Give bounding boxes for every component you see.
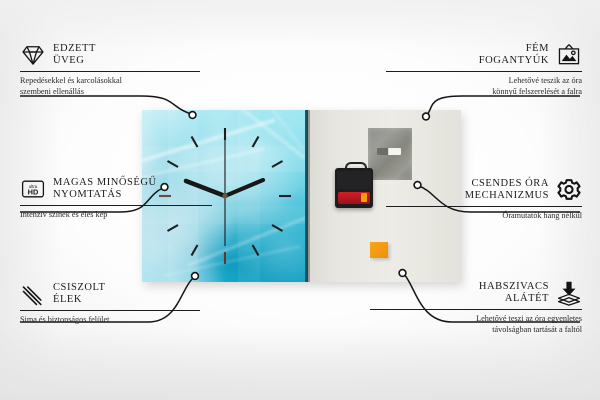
ultra-hd-icon: ultra HD (20, 176, 46, 202)
callout-polished-edges: CSISZOLT ÉLEK Sima és biztonságos felüle… (20, 281, 200, 326)
callout-desc-line1: Óramutatók hang nélkül (386, 211, 582, 222)
polished-edges-icon (20, 281, 46, 307)
picture-frame-hanger-icon (556, 42, 582, 68)
gear-icon (556, 177, 582, 203)
foam-pad (370, 242, 388, 258)
callout-rule (20, 205, 212, 206)
callout-metal-handles: FÉM FOGANTYÚK Lehetővé teszik az óra kön… (386, 42, 582, 98)
callout-desc-line1: Lehetővé teszi az óra egyenletes (370, 314, 582, 325)
callout-title-line2: ALÁTÉT (505, 293, 549, 305)
callout-desc-line2: távolságban tartását a faltól (370, 325, 582, 336)
callout-title-line1: EDZETT (53, 43, 96, 55)
callout-desc-line1: Repedésekkel és karcolásokkal (20, 76, 200, 87)
callout-foam-spacer: HABSZIVACS ALÁTÉT Lehetővé teszi az óra … (370, 280, 582, 336)
callout-high-quality-print: ultra HD MAGAS MINŐSÉGŰ NYOMTATÁS Intenz… (20, 176, 212, 221)
callout-title-line1: CSENDES ÓRA (471, 178, 549, 190)
callout-tempered-glass: EDZETT ÜVEG Repedésekkel és karcolásokka… (20, 42, 200, 98)
hanger-slot (377, 148, 401, 155)
callout-title-line1: FÉM (526, 43, 549, 55)
callout-rule (386, 71, 582, 72)
foam-spacer-arrow-icon (556, 280, 582, 306)
svg-text:HD: HD (28, 188, 39, 197)
battery (338, 192, 370, 204)
infographic-canvas: EDZETT ÜVEG Repedésekkel és karcolásokka… (0, 0, 600, 400)
callout-rule (20, 310, 200, 311)
callout-title-line2: ÜVEG (53, 55, 84, 67)
callout-title-line2: FOGANTYÚK (479, 55, 549, 67)
callout-rule (370, 309, 582, 310)
callout-title-line1: CSISZOLT (53, 282, 105, 294)
callout-title-line2: MECHANIZMUS (465, 190, 549, 202)
mechanism-body (337, 171, 371, 189)
callout-desc-line2: szembeni ellenállás (20, 87, 200, 98)
callout-title-line2: NYOMTATÁS (53, 189, 122, 201)
callout-desc-line1: Sima és biztonságos felület (20, 315, 200, 326)
quartz-mechanism (335, 168, 373, 208)
callout-desc-line1: Intenzív színek és éles kép (20, 210, 212, 221)
callout-desc-line2: könnyű felszerelését a falra (386, 87, 582, 98)
metal-hanger (368, 128, 412, 180)
callout-desc-line1: Lehetővé teszik az óra (386, 76, 582, 87)
callout-title-line1: HABSZIVACS (479, 281, 549, 293)
callout-title-line1: MAGAS MINŐSÉGŰ (53, 177, 157, 189)
callout-rule (20, 71, 200, 72)
callout-title-line2: ÉLEK (53, 294, 82, 306)
hour-hand (225, 180, 263, 196)
callout-silent-mechanism: CSENDES ÓRA MECHANIZMUS Óramutatók hang … (386, 177, 582, 222)
diamond-icon (20, 42, 46, 68)
callout-rule (386, 206, 582, 207)
panel-seam (308, 110, 310, 282)
